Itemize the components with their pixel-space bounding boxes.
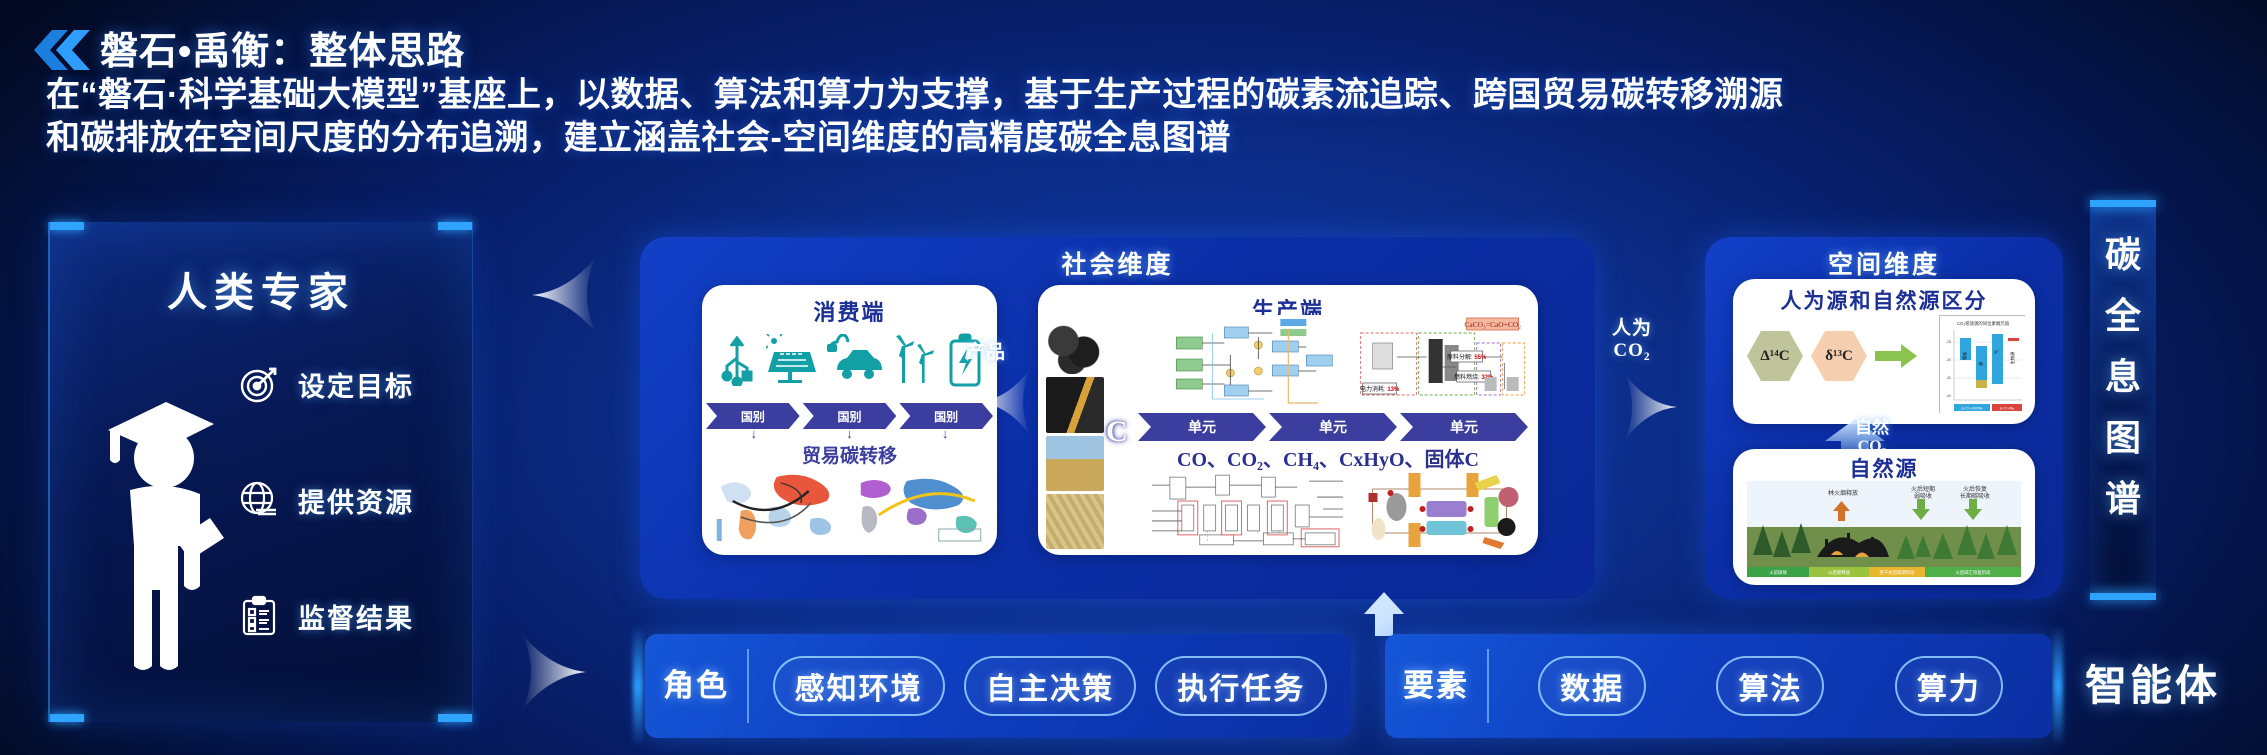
isotope-hexagon-delta13c: δ¹³C: [1811, 331, 1867, 381]
svg-text:Δ¹⁴C≈0‰: Δ¹⁴C≈0‰: [2000, 406, 2015, 410]
coal-photo: [1046, 319, 1104, 374]
corner-marker-top-right: [438, 222, 472, 230]
production-lower-diagrams: [1148, 471, 1528, 549]
carbon-hologram-vertical-panel: 碳 全 息 图 谱: [2090, 200, 2156, 600]
production-card: 生产端: [1038, 285, 1538, 555]
svg-text:CaCO₃=CaO+CO₂: CaCO₃=CaO+CO₂: [1464, 320, 1521, 329]
svg-text:林火烟释放: 林火烟释放: [1828, 489, 1858, 497]
svg-text:油: 油: [1977, 362, 1984, 366]
consumption-card: 消费端: [702, 285, 997, 555]
human-expert-panel: 人类专家 设定目标: [48, 222, 473, 722]
page-header: 磐石•禹衡：整体思路 在“磐石·科学基础大模型”基座上，以数据、算法和算力为支撑…: [0, 0, 2267, 200]
subtitle-line-2: 和碳排放在空间尺度的分布追溯，建立涵盖社会-空间维度的高精度碳全息图谱: [46, 117, 2246, 160]
anthro-natural-source-card: 人为源和自然源区分 Δ¹⁴C δ¹³C CO₂排放源的同位素端元值 -25 -3: [1733, 279, 2035, 424]
carbon-species-formula: CO、CO₂、CH₄、CxHyO、固体C: [1128, 443, 1528, 472]
agent-role-pill[interactable]: 自主决策: [964, 656, 1136, 716]
expert-capability-list: 设定目标 提供资源 监督结果: [238, 362, 468, 710]
unit-step: 单元: [1400, 413, 1528, 441]
hexagon-label: Δ¹⁴C: [1760, 348, 1789, 365]
world-carbon-transfer-map: [852, 467, 990, 547]
svg-text:-25: -25: [1946, 340, 1951, 344]
svg-text:-30: -30: [1946, 358, 1951, 362]
svg-text:煤炭: 煤炭: [1961, 352, 1968, 360]
expert-item-set-goal[interactable]: 设定目标: [238, 362, 468, 406]
agent-bar-right-glow: [2053, 626, 2063, 746]
agent-element-pill[interactable]: 数据: [1538, 656, 1646, 716]
arrow-up-icon: [1363, 592, 1405, 636]
refinery-block-diagram: [1148, 471, 1347, 549]
arrow-right-icon: [1625, 372, 1683, 442]
vertical-cap-bottom: [2090, 593, 2156, 600]
spatial-dimension-heading: 空间维度: [1705, 245, 2063, 281]
natural-card-title: 自然源: [1733, 453, 2035, 483]
svg-text:生物源: 生物源: [2009, 351, 2016, 364]
vertical-char: 息: [2105, 348, 2141, 400]
double-chevron-left-icon: [22, 30, 90, 70]
subtitle-line-1: 在“磐石·科学基础大模型”基座上，以数据、算法和算力为支撑，基于生产过程的碳素流…: [46, 76, 1783, 114]
social-dimension-heading: 社会维度: [640, 245, 1595, 281]
trade-carbon-transfer-label: 贸易碳转移: [702, 441, 997, 468]
gas-plant-photo: [1046, 436, 1104, 491]
agent-bar-left-glow: [633, 626, 643, 746]
consumption-icon-row: [712, 331, 987, 393]
svg-text:长期碳吸收: 长期碳吸收: [1960, 492, 1990, 500]
svg-text:火后短期: 火后短期: [1911, 485, 1935, 493]
anthro-label-line2: CO₂: [1613, 340, 1650, 361]
agent-element-pill-row: 数据 算法 算力: [1489, 656, 2052, 716]
production-photo-strip: [1046, 319, 1104, 549]
svg-text:-40: -40: [1946, 394, 1951, 398]
biomass-straw-photo: [1046, 494, 1104, 549]
unit-step: 单元: [1138, 413, 1266, 441]
anthro-card-title: 人为源和自然源区分: [1733, 285, 2035, 315]
spatial-dimension-block: 空间维度 人为源和自然源区分 Δ¹⁴C δ¹³C CO₂排放源的同位素端元值 -: [1705, 237, 2063, 599]
svg-text:受干扰后碳源阶段: 受干扰后碳源阶段: [1879, 569, 1915, 576]
corner-marker-bottom-left: [50, 714, 84, 722]
target-icon: [238, 363, 280, 405]
agent-role-pill-row: 感知环境 自主决策 执行任务: [749, 656, 1351, 716]
production-upper-diagrams: CaCO₃=CaO+CO₂ 原料分解: 55% 燃料燃烧: 32% 电力消耗: …: [1158, 315, 1528, 411]
vertical-title-text: 碳 全 息 图 谱: [2090, 226, 2156, 522]
clipboard-icon: [238, 595, 280, 637]
arrow-left-icon: [522, 253, 596, 337]
svg-text:弱吸收: 弱吸收: [1914, 492, 1932, 500]
svg-text:Δ¹⁴C≈-1000‰: Δ¹⁴C≈-1000‰: [1961, 406, 1983, 410]
ev-charging-icon: [825, 334, 883, 391]
vertical-cap-top: [2090, 200, 2156, 207]
svg-text:-35: -35: [1946, 376, 1951, 380]
anthropogenic-co2-label: 人为 CO₂: [1612, 318, 1652, 362]
page-subtitle: 在“磐石·科学基础大模型”基座上，以数据、算法和算力为支撑，基于生产过程的碳素流…: [46, 74, 2246, 160]
anthro-label-line1: 人为: [1612, 318, 1652, 339]
svg-text:原料分解: 55%: 原料分解: 55%: [1447, 353, 1487, 361]
svg-text:火前碳储: 火前碳储: [1769, 569, 1787, 576]
agent-label: 智能体: [2085, 652, 2220, 713]
expert-panel-title: 人类专家: [50, 260, 472, 318]
svg-text:火后碳释放: 火后碳释放: [1828, 569, 1851, 576]
agent-role-group: 角色 感知环境 自主决策 执行任务: [645, 634, 1351, 738]
agent-element-key: 要素: [1385, 649, 1489, 723]
product-arrow-label: 产品: [966, 337, 1006, 364]
hexagon-label: δ¹³C: [1825, 348, 1853, 365]
arrow-right-green-icon: [1875, 343, 1917, 369]
expert-item-provide-resources[interactable]: 提供资源: [238, 478, 468, 522]
isotope-hexagon-delta14c: Δ¹⁴C: [1747, 331, 1803, 381]
svg-text:火后恢复: 火后恢复: [1963, 485, 1987, 493]
cement-kiln-diagram: CaCO₃=CaO+CO₂ 原料分解: 55% 燃料燃烧: 32% 电力消耗: …: [1355, 315, 1528, 411]
usb-icon: [717, 334, 757, 391]
agent-element-pill[interactable]: 算力: [1895, 656, 2003, 716]
agent-role-pill[interactable]: 执行任务: [1155, 656, 1327, 716]
natural-label-line1: 自然: [1855, 418, 1889, 437]
svg-text:火后碳汇恢复阶段: 火后碳汇恢复阶段: [1955, 569, 1991, 576]
agent-element-group: 要素 数据 算法 算力: [1385, 634, 2052, 738]
agent-role-pill[interactable]: 感知环境: [773, 656, 945, 716]
carbon-symbol: C: [1106, 415, 1128, 449]
expert-item-label: 监督结果: [298, 597, 414, 636]
globe-icon: [238, 479, 280, 521]
svg-text:电力消耗: 13%: 电力消耗: 13%: [1360, 385, 1400, 393]
oil-barrel-photo: [1046, 377, 1104, 432]
agent-element-pill[interactable]: 算法: [1716, 656, 1824, 716]
natural-source-card: 自然源: [1733, 449, 2035, 585]
isotope-endmember-chart: CO₂排放源的同位素端元值 -25 -30 -35 -40 煤炭 油 气 生物源…: [1939, 315, 2025, 413]
world-trade-flow-map: [710, 467, 848, 547]
expert-item-label: 提供资源: [298, 481, 414, 520]
page-title: 磐石•禹衡：整体思路: [100, 20, 465, 75]
corner-marker-bottom-right: [438, 714, 472, 722]
arrow-right-icon: [522, 630, 596, 714]
vertical-char: 谱: [2105, 470, 2141, 522]
agent-role-key: 角色: [645, 649, 749, 723]
production-unit-bar: 单元 单元 单元: [1138, 413, 1528, 441]
unit-step: 单元: [1269, 413, 1397, 441]
expert-item-label: 设定目标: [298, 365, 414, 404]
vertical-char: 图: [2105, 409, 2141, 461]
corner-marker-top-left: [50, 222, 84, 230]
isotope-hexagon-row: Δ¹⁴C δ¹³C: [1747, 321, 1937, 391]
wind-turbine-icon: [892, 334, 938, 391]
catalytic-cycle-diagram: [1355, 471, 1528, 549]
process-flow-diagram: [1158, 315, 1349, 411]
solar-panel-icon: [766, 334, 816, 391]
arrow-left-icon: [972, 367, 1030, 437]
social-dimension-block: 社会维度 消费端: [640, 237, 1595, 599]
vertical-char: 全: [2105, 287, 2141, 339]
svg-text:CO₂排放源的同位素端元值: CO₂排放源的同位素端元值: [1957, 320, 2010, 327]
vertical-char: 碳: [2105, 226, 2141, 278]
consumption-card-title: 消费端: [702, 295, 997, 327]
world-map-row: [710, 467, 989, 547]
expert-item-supervise-result[interactable]: 监督结果: [238, 594, 468, 638]
agent-bar: 角色 感知环境 自主决策 执行任务 要素 数据 算法 算力 智能体: [645, 634, 2245, 738]
forest-fire-carbon-cycle-photo: 林火烟释放 火后短期 弱吸收 火后恢复 长期碳吸收 火前碳储 火后碳释放 受干扰…: [1747, 481, 2021, 577]
